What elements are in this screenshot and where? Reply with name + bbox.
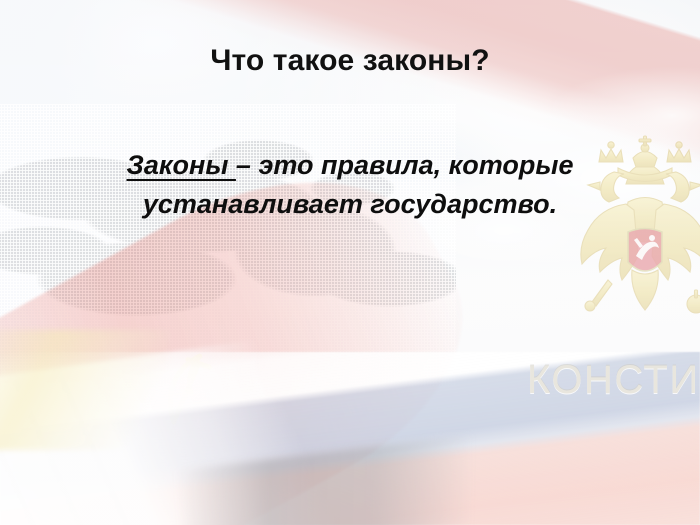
body-line-2: устанавливает государство. bbox=[62, 185, 638, 224]
slide-body-text: Законы – это правила, которые устанавлив… bbox=[62, 146, 638, 224]
constitution-watermark-text: КОНСТИТ bbox=[527, 358, 700, 403]
russian-tricolour-flag bbox=[0, 352, 700, 525]
defined-term: Законы bbox=[127, 150, 236, 180]
hammer-and-sickle-icon bbox=[139, 338, 240, 435]
body-line-1: Законы – это правила, которые bbox=[62, 146, 638, 185]
pink-diagonal-band bbox=[0, 0, 700, 525]
body-line-1-rest: – это правила, которые bbox=[236, 150, 574, 180]
cloud-texture bbox=[0, 0, 700, 525]
slide-title: Что такое законы? bbox=[0, 44, 700, 77]
grey-shadow-smudge bbox=[176, 434, 485, 525]
presentation-slide: КОНСТИТ Что такое законы? Законы – это п… bbox=[0, 0, 700, 525]
background-sky-gradient bbox=[0, 0, 700, 525]
yellow-flag-sliver bbox=[0, 330, 170, 450]
overall-haze-overlay bbox=[0, 0, 700, 525]
white-flag-wedge bbox=[0, 328, 374, 525]
pink-band-left-fade bbox=[0, 0, 700, 525]
